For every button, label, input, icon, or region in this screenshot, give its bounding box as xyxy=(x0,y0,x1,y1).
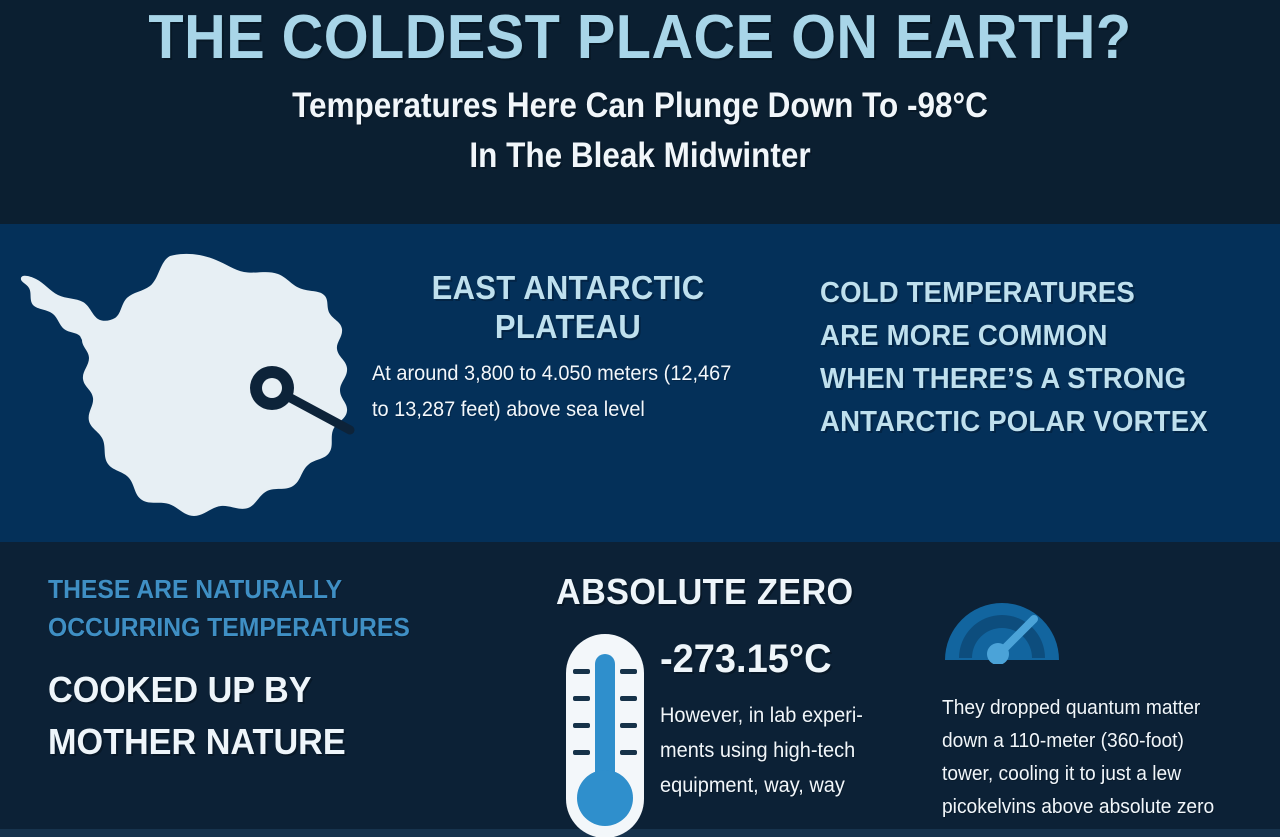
vortex-line-1: COLD TEMPERATURES xyxy=(820,277,1135,309)
nature-kicker: THESE ARE NATURALLY OCCURRING TEMPERATUR… xyxy=(48,570,447,646)
quantum-body-line-1: They dropped quantum matter xyxy=(942,692,1242,725)
plateau-heading-line-2: PLATEAU xyxy=(495,308,641,345)
antarctica-map-icon xyxy=(20,248,370,528)
polar-vortex-block: COLD TEMPERATURES ARE MORE COMMON WHEN T… xyxy=(820,272,1260,444)
subtitle-line-2: In The Bleak Midwinter xyxy=(64,130,1216,180)
quantum-body-line-3: tower, cooling it to just a lew xyxy=(942,758,1242,791)
vortex-line-4: ANTARCTIC POLAR VORTEX xyxy=(820,406,1208,438)
page-title: THE COLDEST PLACE ON EARTH? xyxy=(45,0,1235,72)
nature-kicker-line-1: THESE ARE NATURALLY xyxy=(48,574,342,604)
absolute-zero-value: -273.15°C xyxy=(660,636,903,682)
absolute-zero-body-line-3: equipment, way, way xyxy=(660,768,903,803)
absolute-zero-body-line-1: However, in lab experi- xyxy=(660,698,903,733)
antarctica-map-figure xyxy=(20,248,370,528)
nature-headline: COOKED UP BY MOTHER NATURE xyxy=(48,664,447,768)
quantum-body-text: They dropped quantum matter down a 110-m… xyxy=(942,692,1242,824)
plateau-body-text: At around 3,800 to 4.050 meters (12,467 … xyxy=(372,356,744,428)
nature-kicker-line-2: OCCURRING TEMPERATURES xyxy=(48,612,410,642)
quantum-body-line-2: down a 110-meter (360-foot) xyxy=(942,725,1242,758)
nature-headline-line-1: COOKED UP BY xyxy=(48,669,312,710)
gauge-icon xyxy=(942,592,1062,664)
east-antarctic-plateau-block: EAST ANTARCTIC PLATEAU At around 3,800 t… xyxy=(372,268,764,428)
title-block: THE COLDEST PLACE ON EARTH? Temperatures… xyxy=(0,0,1280,180)
vortex-line-3: WHEN THERE’S A STRONG xyxy=(820,363,1186,395)
quantum-body-line-4: picokelvins above absolute zero xyxy=(942,791,1242,824)
plateau-heading: EAST ANTARCTIC PLATEAU xyxy=(384,268,752,346)
quantum-matter-block: They dropped quantum matter down a 110-m… xyxy=(942,592,1254,824)
thermometer-icon xyxy=(562,630,648,837)
absolute-zero-body: However, in lab experi- ments using high… xyxy=(660,698,903,803)
subtitle-line-1: Temperatures Here Can Plunge Down To -98… xyxy=(64,72,1216,130)
vortex-heading: COLD TEMPERATURES ARE MORE COMMON WHEN T… xyxy=(820,272,1238,444)
infographic-canvas: THE COLDEST PLACE ON EARTH? Temperatures… xyxy=(0,0,1280,837)
absolute-zero-block: ABSOLUTE ZERO -273.15°C xyxy=(556,570,916,630)
plateau-heading-line-1: EAST ANTARCTIC xyxy=(432,269,705,306)
mother-nature-block: THESE ARE NATURALLY OCCURRING TEMPERATUR… xyxy=(48,570,468,768)
vortex-line-2: ARE MORE COMMON xyxy=(820,320,1108,352)
absolute-zero-text: -273.15°C However, in lab experi- ments … xyxy=(660,636,916,803)
absolute-zero-heading: ABSOLUTE ZERO xyxy=(556,570,898,614)
nature-headline-line-2: MOTHER NATURE xyxy=(48,721,346,762)
absolute-zero-body-line-2: ments using high-tech xyxy=(660,733,903,768)
